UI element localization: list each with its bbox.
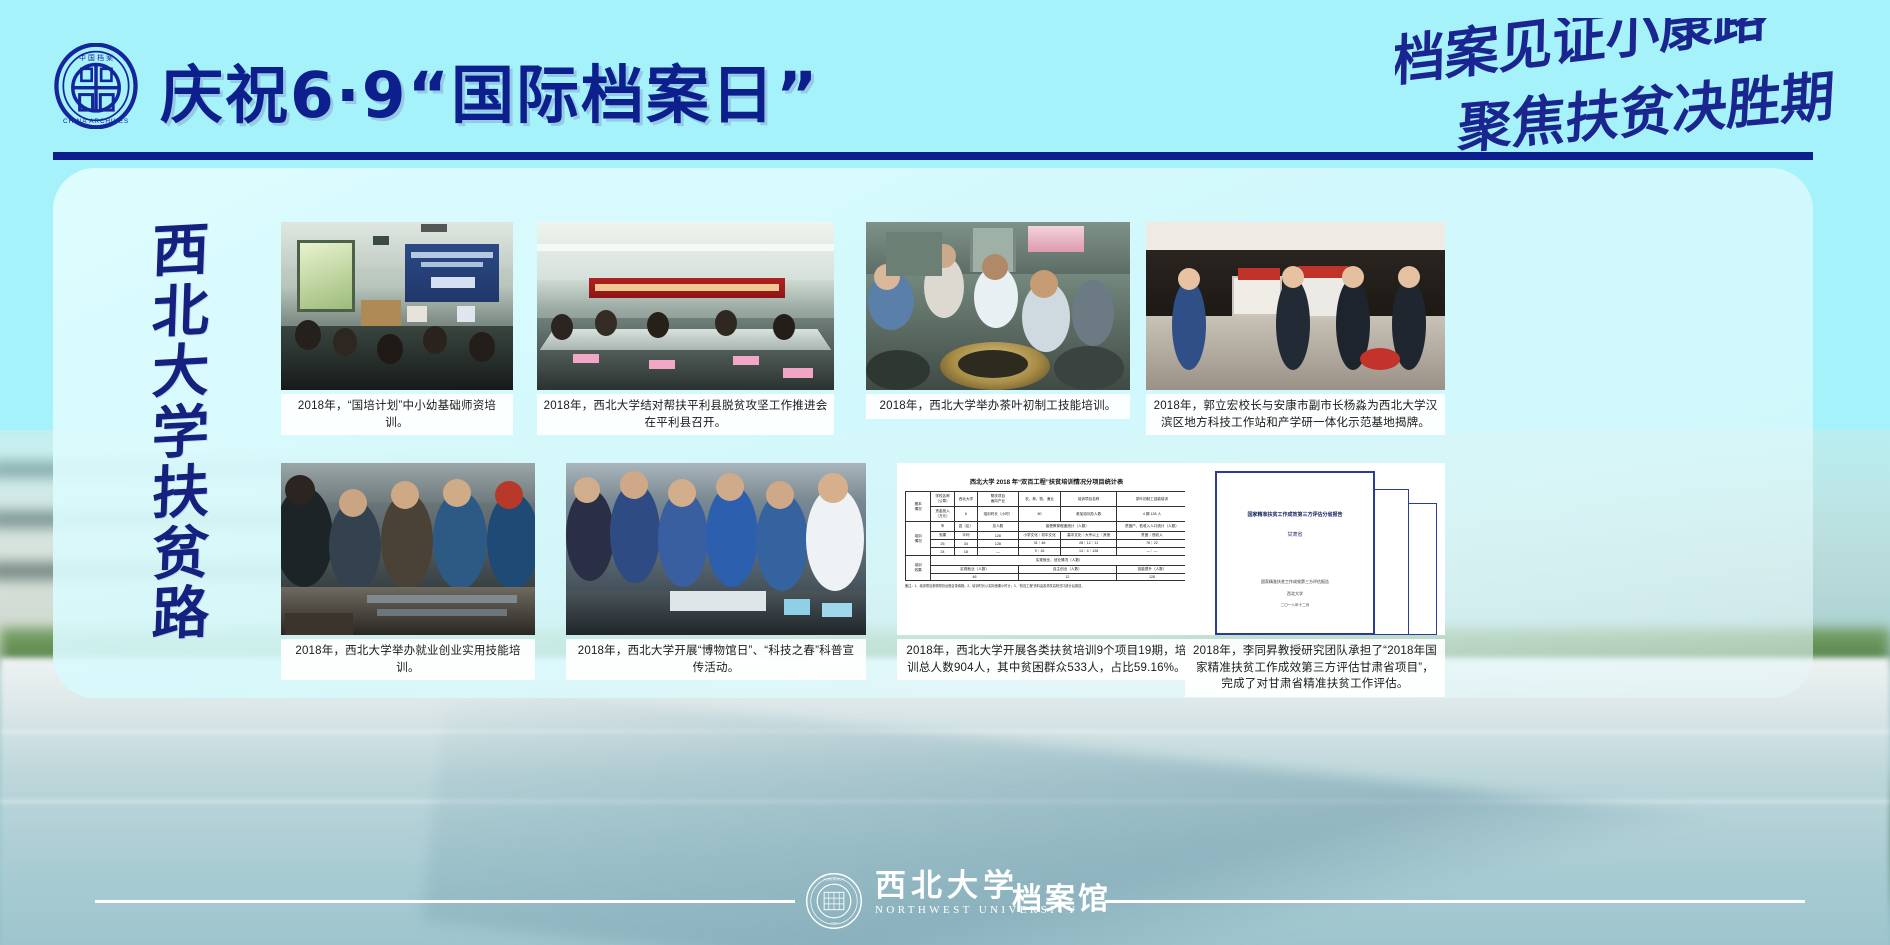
table-row: 培训情况 市 县（区） 总人数 接受教育程度统计（人数） 贫困户、低收入人口统计… <box>906 522 1188 532</box>
document-title: 西北大学 2018 年“双百工程”扶贫培训情况分项目统计表 <box>905 477 1188 486</box>
report-inner-sub: 西北大学 <box>1221 591 1369 597</box>
gallery-card[interactable]: 西北大学 2018 年“双百工程”扶贫培训情况分项目统计表 基本情况 学校名称（… <box>897 463 1196 680</box>
vtitle-char: 扶 <box>150 463 209 523</box>
gallery-card[interactable]: 2018年，西北大学结对帮扶平利县脱贫攻坚工作推进会在平利县召开。 <box>537 222 834 435</box>
page-title: 庆祝6·9“国际档案日” <box>160 45 819 136</box>
photo-caption: 2018年，西北大学举办茶叶初制工技能培训。 <box>866 394 1130 419</box>
vtitle-char: 西 <box>150 221 209 281</box>
vtitle-char: 路 <box>150 584 209 644</box>
gallery-card[interactable]: 2018年，西北大学开展“博物馆日”、“科技之春”科普宣传活动。 <box>566 463 866 680</box>
table-row: 资金投入（万元） 6 培训时长（小时） 80 参加培训总人数 4 期 128 人 <box>906 507 1188 522</box>
photo-vocational-skills-workshop[interactable] <box>281 463 535 635</box>
gallery-card[interactable]: 国家精准扶贫工作成效第三方评估分省报告 甘肃省 国家精准扶贫工作成效第三方评估报… <box>1185 463 1445 697</box>
photo-plaque-unveiling[interactable] <box>1146 222 1445 390</box>
gallery-card[interactable]: 2018年，西北大学举办茶叶初制工技能培训。 <box>866 222 1130 419</box>
report-subtitle: 甘肃省 <box>1221 531 1369 538</box>
document-evaluation-report[interactable]: 国家精准扶贫工作成效第三方评估分省报告 甘肃省 国家精准扶贫工作成效第三方评估报… <box>1185 463 1445 635</box>
table-row: 基本情况 学校名称（公章） 西北大学 帮扶项目面向产业 农、林、牧、渔业 培训项… <box>906 492 1188 507</box>
photo-caption: 2018年，西北大学结对帮扶平利县脱贫攻坚工作推进会在平利县召开。 <box>537 394 834 435</box>
gallery-card[interactable]: 2018年，西北大学举办就业创业实用技能培训。 <box>281 463 535 680</box>
photo-conference-room[interactable] <box>537 222 834 390</box>
page-footer: NORTHWEST 1902 西北大学 NORTHWEST UNIVERSITY… <box>0 860 1890 945</box>
photo-caption: 2018年，西北大学举办就业创业实用技能培训。 <box>281 639 535 680</box>
vertical-exhibition-title: 西 北 大 学 扶 贫 路 <box>134 222 226 642</box>
svg-text:NORTHWEST: NORTHWEST <box>823 878 845 882</box>
page-header: 中 国 档 案 CHINA ARCHIVES 庆祝6·9“国际档案日” 档案见证… <box>0 0 1890 165</box>
northwest-university-seal-icon: NORTHWEST 1902 <box>805 872 863 930</box>
vtitle-char: 学 <box>150 402 209 462</box>
gallery-card[interactable]: 2018年，“国培计划”中小幼基础师资培训。 <box>281 222 513 435</box>
vtitle-char: 贫 <box>150 523 209 583</box>
footer-unit-name: 档案馆 <box>1012 874 1111 918</box>
table-row: 46 12 128 <box>906 574 1188 581</box>
statistics-table: 基本情况 学校名称（公章） 西北大学 帮扶项目面向产业 农、林、牧、渔业 培训项… <box>905 491 1188 581</box>
document-note: 备注：1、培训项目参照帮扶台账目录填报；2、培训时长以实际授课小时计；3、“双百… <box>905 584 1188 589</box>
photo-science-popularization[interactable] <box>566 463 866 635</box>
svg-text:CHINA ARCHIVES: CHINA ARCHIVES <box>63 118 129 125</box>
photo-tea-processing-training[interactable] <box>866 222 1130 390</box>
vtitle-char: 大 <box>150 342 209 402</box>
document-statistics-table[interactable]: 西北大学 2018 年“双百工程”扶贫培训情况分项目统计表 基本情况 学校名称（… <box>897 463 1196 635</box>
footer-divider-left <box>95 900 795 903</box>
photo-caption: 2018年，郭立宏校长与安康市副市长杨淼为西北大学汉滨区地方科技工作站和产学研一… <box>1146 394 1445 435</box>
report-title: 国家精准扶贫工作成效第三方评估分省报告 <box>1221 511 1369 518</box>
vtitle-char: 北 <box>150 281 209 341</box>
photo-classroom-training[interactable] <box>281 222 513 390</box>
gallery-card[interactable]: 2018年，郭立宏校长与安康市副市长杨淼为西北大学汉滨区地方科技工作站和产学研一… <box>1146 222 1445 435</box>
calligraphy-slogan: 档案见证小康路 聚焦扶贫决胜期 <box>1395 18 1850 158</box>
footer-divider-right <box>1105 900 1805 903</box>
report-date: 二〇一八年十二月 <box>1221 603 1369 608</box>
svg-text:1902: 1902 <box>831 921 838 925</box>
table-row: 24 18 — 9｜16 13｜4｜128 —｜— <box>906 548 1188 556</box>
photo-caption: 2018年，西北大学开展各类扶贫培训9个项目19期，培训总人数904人，其中贫困… <box>897 639 1196 680</box>
table-row: 安康 平利 128 小学文化｜初中文化 高中文化｜大专以上｜其他 贫困｜低收入 <box>906 532 1188 540</box>
photo-caption: 2018年，李同昇教授研究团队承担了“2018年国家精准扶贫工作成效第三方评估甘… <box>1185 639 1445 697</box>
table-row: 培训效果 实现就业、创业情况（人数） <box>906 556 1188 566</box>
china-archives-emblem-icon: 中 国 档 案 CHINA ARCHIVES <box>53 43 139 129</box>
table-row: 25 34 128 31｜46 28｜12｜11 76｜22 <box>906 540 1188 548</box>
report-inner-title: 国家精准扶贫工作成效第三方评估报告 <box>1221 579 1369 585</box>
svg-text:中 国 档 案: 中 国 档 案 <box>79 53 113 62</box>
photo-caption: 2018年，“国培计划”中小幼基础师资培训。 <box>281 394 513 435</box>
photo-caption: 2018年，西北大学开展“博物馆日”、“科技之春”科普宣传活动。 <box>566 639 866 680</box>
table-row: 实现就业（人数） 自主创业（人数） 技能提升（人数） <box>906 566 1188 574</box>
